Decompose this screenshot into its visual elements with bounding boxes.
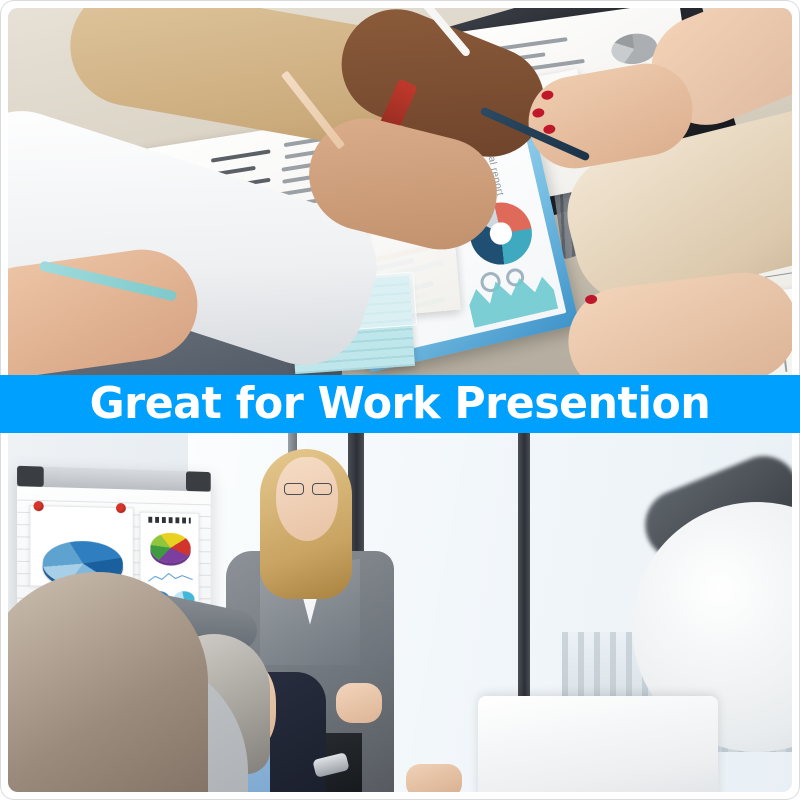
laptop-white [478,696,718,792]
presenter-hand-resting [336,683,382,723]
meeting-scene: Annual report [8,8,792,375]
photo-meeting: Annual report [8,8,792,375]
pie-multicolor [150,533,190,563]
glasses-icon [284,483,332,495]
mini-line-chart [148,570,192,584]
flipchart-rail [17,466,211,492]
presenter-face [276,457,338,541]
card-title-placeholder [148,517,190,524]
audience-hand [406,764,462,792]
promo-collage: Annual report [0,0,800,800]
magnet-red-right [116,503,126,513]
photo-presentation [8,433,792,792]
magnet-red-left [33,501,43,511]
banner-title: Great for Work Presention [90,382,711,426]
presentation-scene [8,433,792,792]
banner-bar: Great for Work Presention [0,375,800,433]
